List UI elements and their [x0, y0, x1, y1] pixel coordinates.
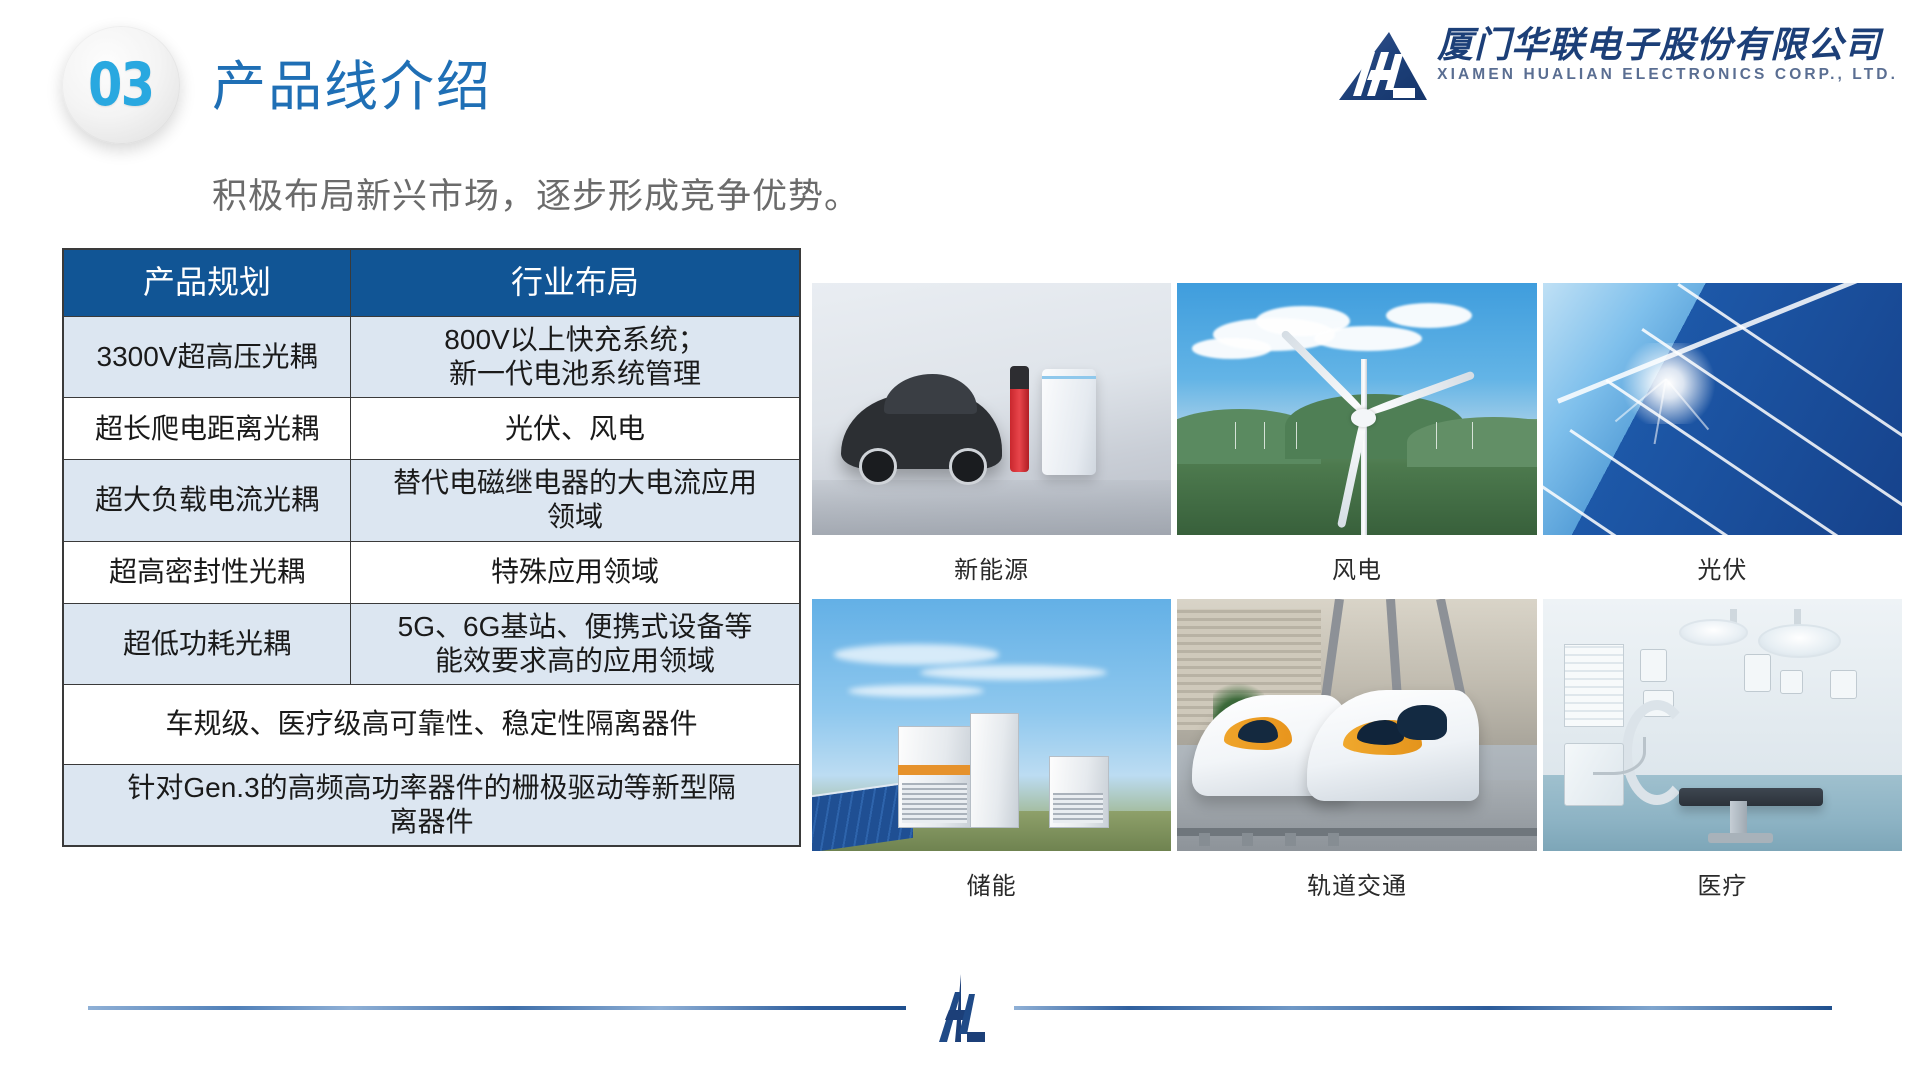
photo-cell-medical: 医疗	[1543, 599, 1902, 901]
photo-caption: 光伏	[1697, 550, 1747, 585]
photo-cell-wind-power: 风电	[1177, 283, 1536, 585]
table-row: 超大负载电流光耦 替代电磁继电器的大电流应用 领域	[63, 460, 800, 541]
table-row-full-width: 车规级、医疗级高可靠性、稳定性隔离器件	[63, 684, 800, 764]
page-subtitle: 积极布局新兴市场，逐步形成竞争优势。	[212, 168, 860, 219]
photo-caption: 风电	[1332, 550, 1382, 585]
table-row: 超低功耗光耦 5G、6G基站、便携式设备等 能效要求高的应用领域	[63, 603, 800, 684]
footer-rule-right	[1014, 1006, 1832, 1010]
cell-full-width: 针对Gen.3的高频高功率器件的栅极驱动等新型隔 离器件	[63, 764, 800, 846]
column-header-product-plan: 产品规划	[63, 249, 351, 317]
photo-cell-rail-transit: 轨道交通	[1177, 599, 1536, 901]
column-header-industry-layout: 行业布局	[351, 249, 801, 317]
cell-full-width: 车规级、医疗级高可靠性、稳定性隔离器件	[63, 684, 800, 764]
photo-cell-new-energy: 新能源	[812, 283, 1171, 585]
cell-industry-layout: 5G、6G基站、便携式设备等 能效要求高的应用领域	[351, 603, 801, 684]
table-row-full-width: 针对Gen.3的高频高功率器件的栅极驱动等新型隔 离器件	[63, 764, 800, 846]
solar-panel-photo	[1543, 283, 1902, 535]
photo-cell-energy-storage: 储能	[812, 599, 1171, 901]
cell-industry-layout: 800V以上快充系统； 新一代电池系统管理	[351, 317, 801, 398]
cell-product-plan: 超长爬电距离光耦	[63, 398, 351, 460]
company-logo-text: 厦门华联电子股份有限公司 XIAMEN HUALIAN ELECTRONICS …	[1437, 26, 1898, 84]
page-title: 产品线介绍	[212, 42, 492, 121]
application-photo-grid: 新能源 风电	[812, 283, 1902, 901]
section-number-label: 03	[88, 50, 153, 120]
photo-caption: 储能	[967, 866, 1017, 901]
photo-caption: 新能源	[954, 550, 1029, 585]
footer-rule-left	[88, 1006, 906, 1010]
table-header-row: 产品规划 行业布局	[63, 249, 800, 317]
cell-industry-layout: 替代电磁继电器的大电流应用 领域	[351, 460, 801, 541]
table-row: 超高密封性光耦 特殊应用领域	[63, 541, 800, 603]
company-name-cn: 厦门华联电子股份有限公司	[1437, 26, 1881, 64]
product-roadmap-table: 产品规划 行业布局 3300V超高压光耦 800V以上快充系统； 新一代电池系统…	[62, 248, 801, 847]
cell-product-plan: 3300V超高压光耦	[63, 317, 351, 398]
cell-industry-layout: 特殊应用领域	[351, 541, 801, 603]
operating-room-photo	[1543, 599, 1902, 851]
table-row: 3300V超高压光耦 800V以上快充系统； 新一代电池系统管理	[63, 317, 800, 398]
company-logo: 厦门华联电子股份有限公司 XIAMEN HUALIAN ELECTRONICS …	[1337, 26, 1898, 107]
energy-storage-photo	[812, 599, 1171, 851]
section-number-badge: 03	[62, 26, 180, 144]
hualian-footer-logo-icon	[925, 972, 995, 1049]
slide-footer	[0, 966, 1920, 1046]
table-row: 超长爬电距离光耦 光伏、风电	[63, 398, 800, 460]
photo-cell-photovoltaic: 光伏	[1543, 283, 1902, 585]
photo-caption: 轨道交通	[1307, 866, 1407, 901]
ev-charging-photo	[812, 283, 1171, 535]
photo-caption: 医疗	[1697, 866, 1747, 901]
high-speed-train-photo	[1177, 599, 1536, 851]
cell-industry-layout: 光伏、风电	[351, 398, 801, 460]
cell-product-plan: 超低功耗光耦	[63, 603, 351, 684]
hualian-logo-icon	[1337, 30, 1429, 107]
cell-product-plan: 超高密封性光耦	[63, 541, 351, 603]
company-name-en: XIAMEN HUALIAN ELECTRONICS CORP., LTD.	[1437, 66, 1898, 84]
wind-turbine-photo	[1177, 283, 1536, 535]
slide-header: 03 产品线介绍 积极布局新兴市场，逐步形成竞争优势。	[0, 0, 1920, 150]
cell-product-plan: 超大负载电流光耦	[63, 460, 351, 541]
